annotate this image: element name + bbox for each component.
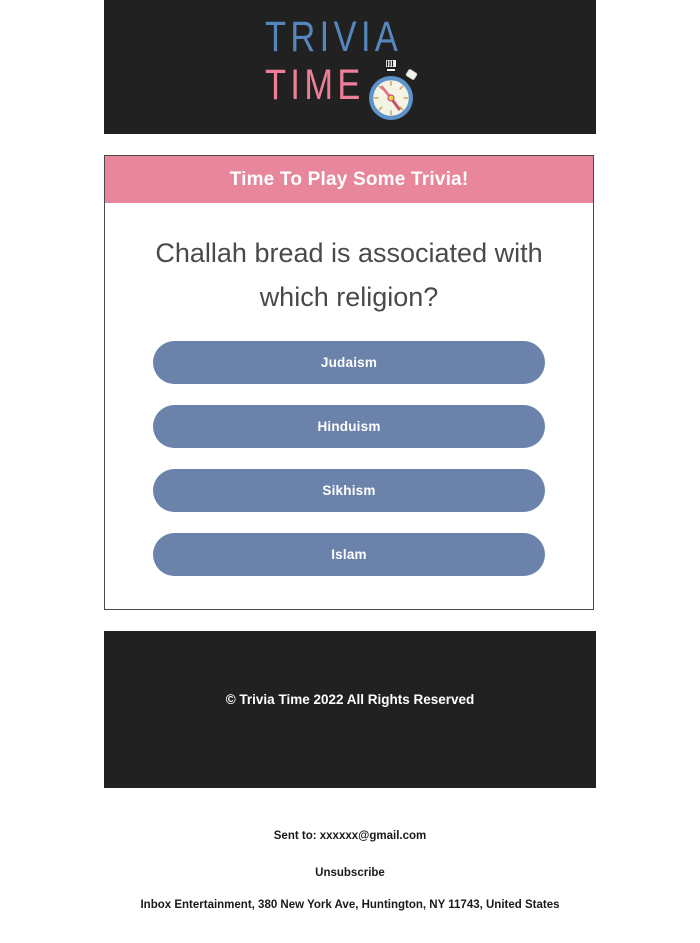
unsubscribe-link[interactable]: Unsubscribe <box>0 866 700 881</box>
trivia-time-logo: TRIVIA TIME <box>265 11 435 123</box>
answer-button-islam[interactable]: Islam <box>153 533 545 576</box>
answer-button-hinduism[interactable]: Hinduism <box>153 405 545 448</box>
card-banner: Time To Play Some Trivia! <box>105 156 593 203</box>
email-header: TRIVIA TIME <box>104 0 596 134</box>
logo-word-trivia: TRIVIA <box>265 15 371 59</box>
legal-block: Sent to: xxxxxx@gmail.com Unsubscribe In… <box>0 820 700 913</box>
trivia-question: Challah bread is associated with which r… <box>105 203 593 319</box>
email-body: TRIVIA TIME <box>0 0 700 943</box>
logo-word-time: TIME <box>265 63 371 107</box>
trivia-card: Time To Play Some Trivia! Challah bread … <box>104 155 594 610</box>
stopwatch-icon <box>365 59 425 121</box>
card-banner-title: Time To Play Some Trivia! <box>230 169 469 191</box>
sent-to-text: Sent to: xxxxxx@gmail.com <box>0 829 700 844</box>
answer-button-judaism[interactable]: Judaism <box>153 341 545 384</box>
copyright-text: © Trivia Time 2022 All Rights Reserved <box>104 692 596 707</box>
mailing-address: Inbox Entertainment, 380 New York Ave, H… <box>0 898 700 913</box>
email-footer: © Trivia Time 2022 All Rights Reserved <box>104 631 596 788</box>
answer-options: Judaism Hinduism Sikhism Islam <box>105 319 593 576</box>
answer-button-sikhism[interactable]: Sikhism <box>153 469 545 512</box>
